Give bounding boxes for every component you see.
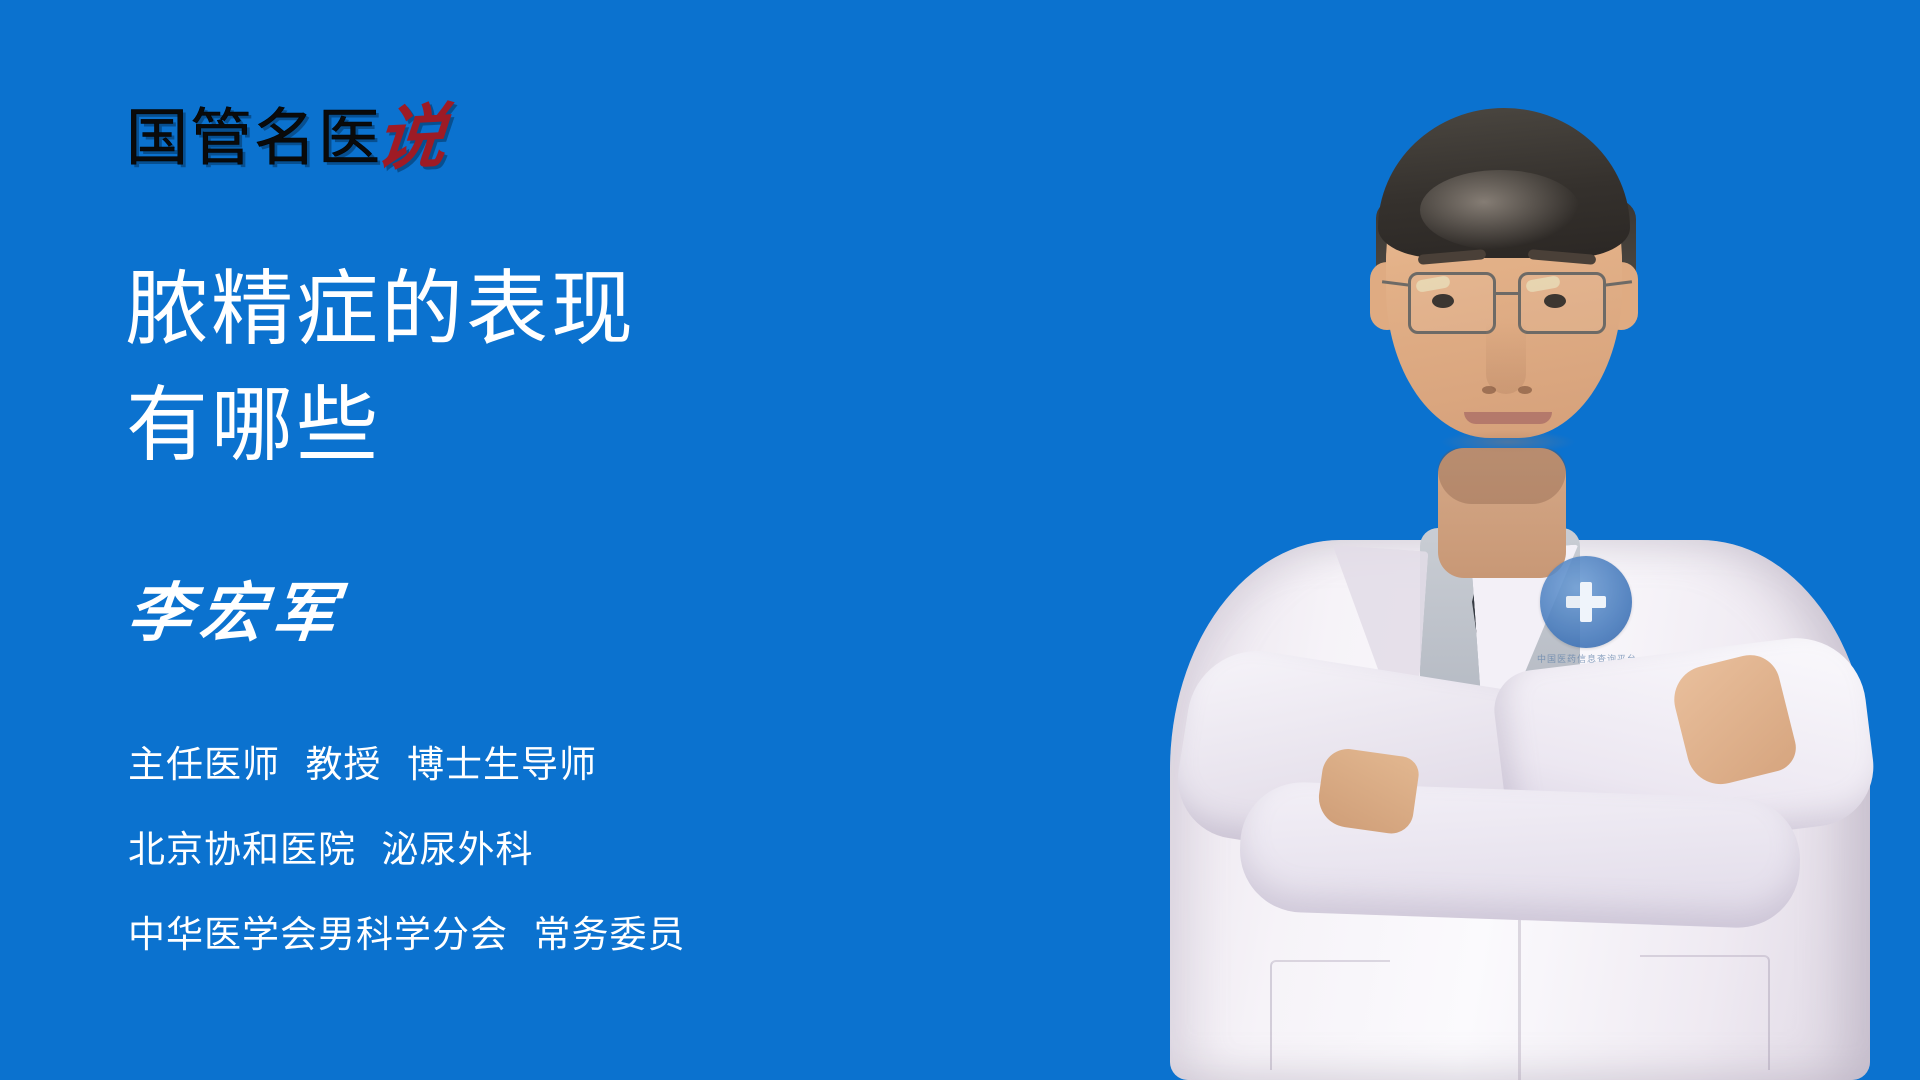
nostril-left <box>1482 386 1496 394</box>
page-title: 脓精症的表现 有哪些 <box>126 252 636 484</box>
doctor-credential-line-3: 中华医学会男科学分会 常务委员 <box>128 892 686 977</box>
page-title-line-1: 脓精症的表现 <box>126 252 636 368</box>
doctor-name: 李宏军 <box>124 578 348 650</box>
neck-shadow <box>1438 448 1566 504</box>
hospital-badge-icon <box>1540 556 1632 648</box>
doctor-portrait-photo: 中国医药信息查询平台 <box>1120 0 1920 1080</box>
medical-cross-icon <box>1564 580 1608 624</box>
page-title-line-2: 有哪些 <box>126 368 636 484</box>
forehead-highlight <box>1420 170 1580 250</box>
doctor-credentials: 主任医师 教授 博士生导师 北京协和医院 泌尿外科 中华医学会男科学分会 常务委… <box>128 722 686 977</box>
lab-coat-pocket-right <box>1640 955 1770 1070</box>
mouth <box>1464 412 1552 424</box>
lab-coat-pocket-left <box>1270 960 1390 1070</box>
chin-shadow <box>1440 430 1576 454</box>
doctor-credential-line-2: 北京协和医院 泌尿外科 <box>128 807 686 892</box>
nose <box>1486 322 1526 394</box>
program-logo: 国管名医 说 <box>126 92 446 172</box>
video-cover-slide: 国管名医 说 脓精症的表现 有哪些 李宏军 主任医师 教授 博士生导师 北京协和… <box>0 0 1920 1080</box>
program-logo-accent-text: 说 <box>373 102 449 174</box>
eyeglasses-bridge <box>1496 292 1518 295</box>
nostril-right <box>1518 386 1532 394</box>
doctor-credential-line-1: 主任医师 教授 博士生导师 <box>128 722 686 807</box>
program-logo-main-text: 国管名医 <box>126 104 382 172</box>
